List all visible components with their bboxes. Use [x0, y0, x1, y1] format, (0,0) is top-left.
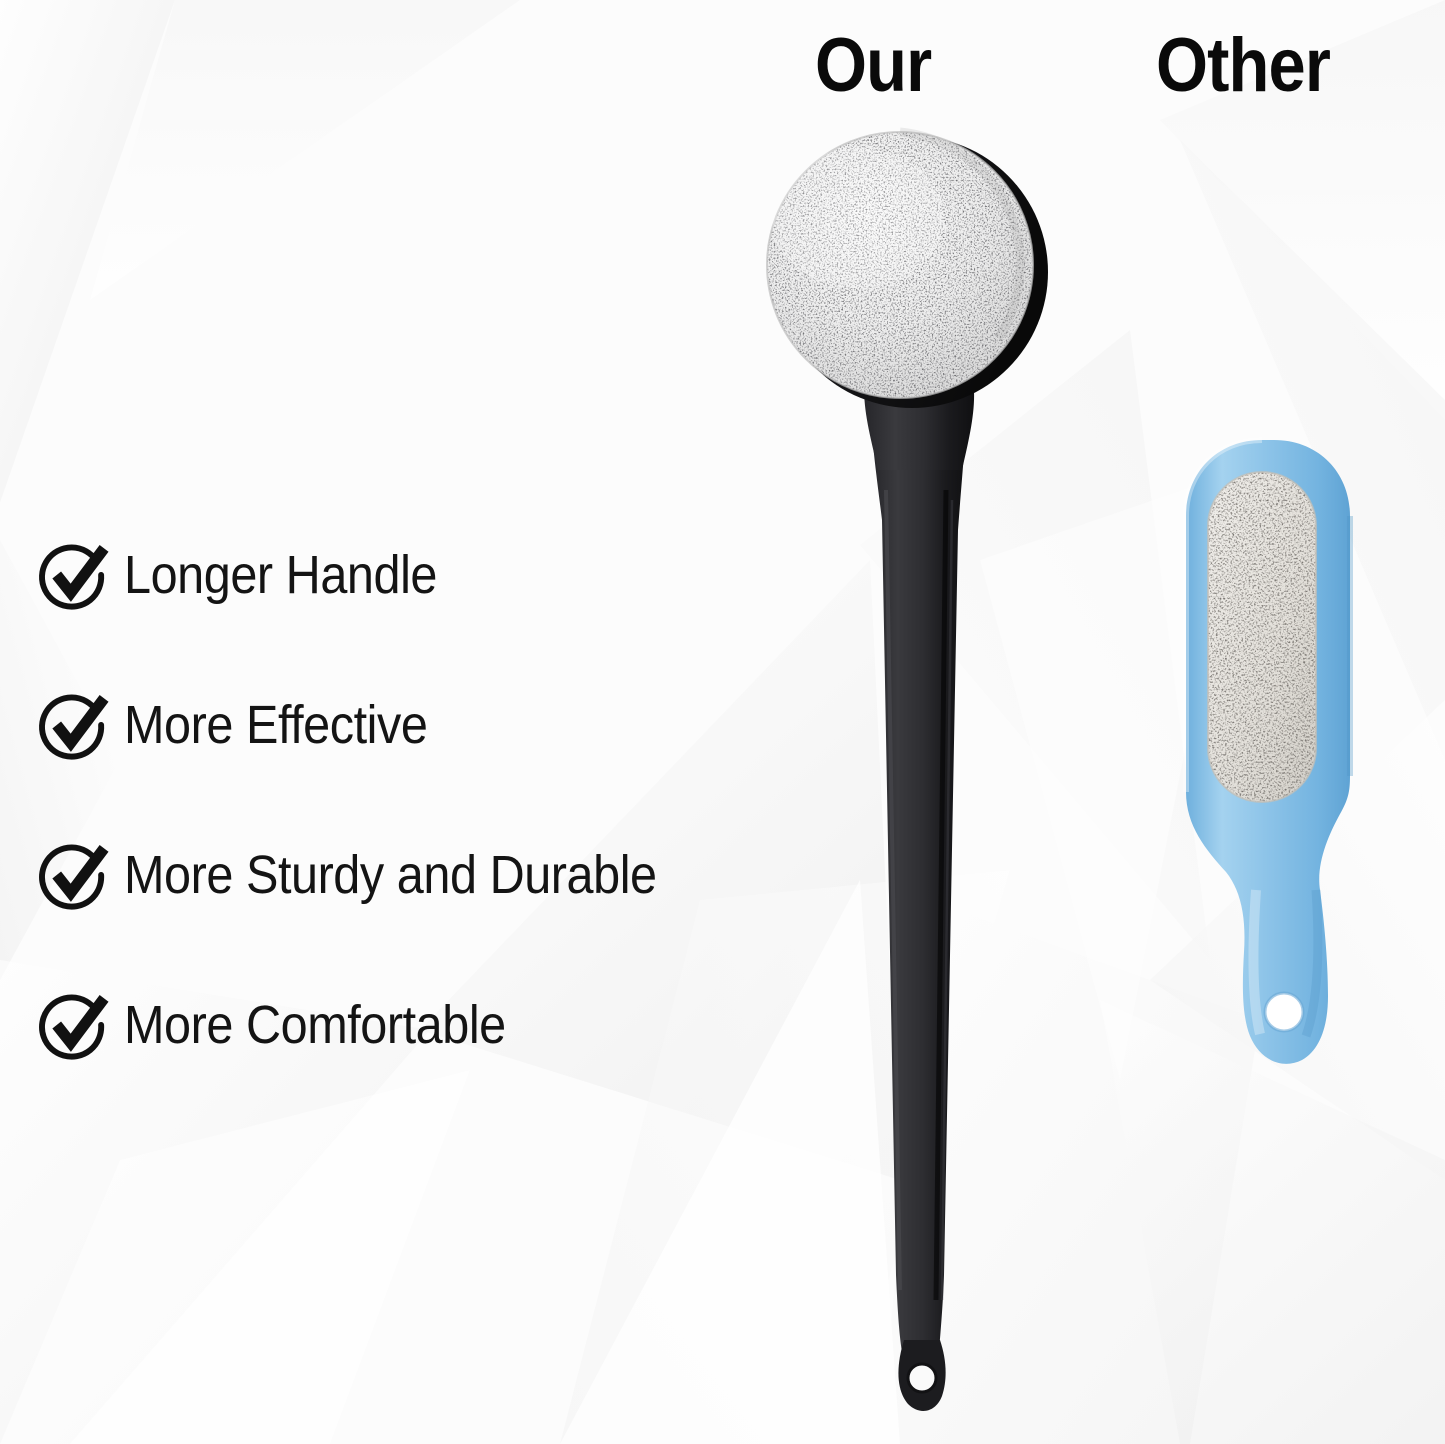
- product-image-ours: [700, 90, 1120, 1430]
- column-heading-other: Other: [1156, 28, 1330, 104]
- check-circle-icon: [36, 688, 110, 762]
- feature-label: More Sturdy and Durable: [124, 844, 657, 906]
- handle-ours: [864, 372, 974, 1411]
- check-circle-icon: [36, 538, 110, 612]
- feature-label: More Effective: [124, 694, 427, 756]
- comparison-infographic: Our Other Longer Handle More Effective M…: [0, 0, 1445, 1444]
- pumice-head-ours: [767, 132, 1048, 408]
- feature-label: Longer Handle: [124, 544, 437, 606]
- pumice-pad-other: [1208, 472, 1316, 802]
- feature-label: More Comfortable: [124, 994, 506, 1056]
- check-circle-icon: [36, 838, 110, 912]
- product-image-other: [1160, 420, 1410, 1120]
- check-circle-icon: [36, 988, 110, 1062]
